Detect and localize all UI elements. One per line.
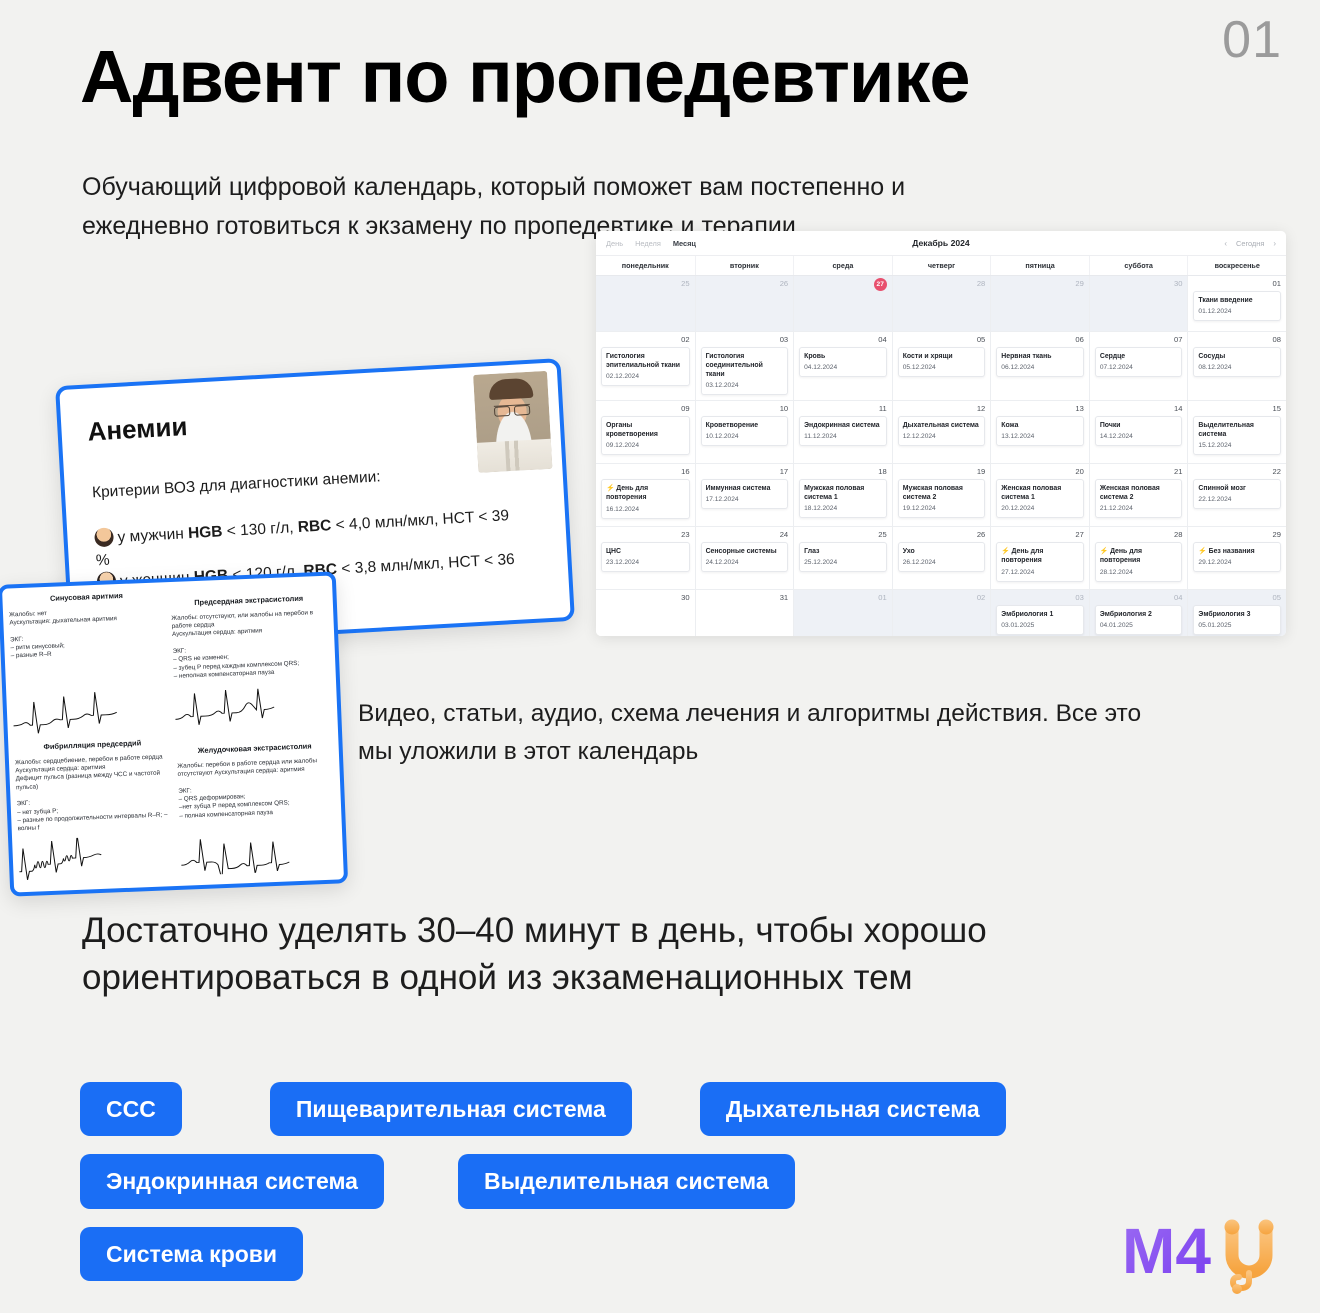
stethoscope-chestpiece: [1232, 1284, 1242, 1294]
topic-tag-digestive[interactable]: Пищеварительная система: [270, 1082, 632, 1136]
calendar-event-title: Глаз: [804, 547, 882, 556]
calendar-day-cell[interactable]: 05Кости и хрящи05.12.2024: [892, 332, 991, 400]
calendar-toolbar: День Неделя Месяц Декабрь 2024 ‹ Сегодня…: [596, 231, 1286, 255]
calendar-event[interactable]: Ткани введение01.12.2024: [1193, 291, 1281, 321]
calendar-day-number: 28: [1095, 530, 1183, 539]
calendar-day-number: 04: [799, 335, 887, 344]
ecg-panel-heading: Синусовая аритмия: [8, 590, 164, 605]
ecg-panel: Предсердная экстрасистолияЖалобы: отсутс…: [170, 584, 332, 732]
calendar-day-number: 17: [701, 467, 789, 476]
calendar-event[interactable]: Почки14.12.2024: [1095, 416, 1183, 446]
calendar-event-date: 26.12.2024: [903, 559, 981, 567]
calendar-day-cell[interactable]: 26Ухо26.12.2024: [892, 527, 991, 589]
glasses-icon: [494, 404, 530, 414]
anemia-card-subtitle: Критерии ВОЗ для диагностики анемии:: [92, 468, 381, 502]
anemia-card-title: Анемии: [87, 411, 188, 448]
m4u-logo: M4: [1124, 1213, 1292, 1297]
calendar-event[interactable]: ЦНС23.12.2024: [601, 542, 690, 572]
calendar-day-number: 06: [996, 335, 1084, 344]
bolt-icon: ⚡: [1198, 548, 1207, 555]
calendar-event-date: 22.12.2024: [1198, 496, 1276, 504]
ecg-arrhythmia-card[interactable]: Синусовая аритмияЖалобы: нет Аускультаци…: [0, 571, 348, 896]
ecg-panel-body: Жалобы: сердцебиение, перебои в работе с…: [15, 753, 174, 834]
calendar-day-number: 23: [601, 530, 690, 539]
calendar-title: Декабрь 2024: [596, 238, 1286, 248]
calendar-event[interactable]: Гистология эпителиальной ткани02.12.2024: [601, 347, 690, 386]
calendar-event-date: 18.12.2024: [804, 505, 882, 513]
calendar-event-title: Ухо: [903, 547, 981, 556]
calendar-day-cell[interactable]: 07Сердце07.12.2024: [1089, 332, 1188, 400]
calendar-day-number: 15: [1193, 404, 1281, 413]
calendar-day-cell[interactable]: 01Ткани введение01.12.2024: [1187, 276, 1286, 331]
calendar-day-cell[interactable]: 21Женская половая система 221.12.2024: [1089, 464, 1188, 526]
calendar-event-title: Иммунная система: [706, 484, 784, 493]
calendar-event-date: 04.01.2025: [1100, 622, 1178, 630]
calendar-event[interactable]: Мужская половая система 219.12.2024: [898, 479, 986, 518]
anemia-men-pre: у мужчин: [117, 525, 188, 546]
page-number: 01: [1222, 14, 1282, 66]
calendar-event-date: 05.12.2024: [903, 364, 981, 372]
calendar-day-number: 20: [996, 467, 1084, 476]
ecg-panel: Желудочковая экстрасистолияЖалобы: переб…: [176, 731, 337, 877]
calendar-event-date: 03.12.2024: [706, 382, 784, 390]
chevron-left-icon[interactable]: ‹: [1224, 239, 1227, 248]
calendar-event-title: Эмбриология 2: [1100, 610, 1178, 619]
calendar-event[interactable]: Нервная ткань06.12.2024: [996, 347, 1084, 377]
calendar-event-date: 20.12.2024: [1001, 505, 1079, 513]
calendar-event-title: Органы кроветворения: [606, 421, 685, 440]
ecg-waveform-icon: [12, 688, 170, 736]
bolt-icon: ⚡: [606, 485, 615, 492]
calendar-day-number: 11: [799, 404, 887, 413]
calendar-event[interactable]: Эмбриология 204.01.2025: [1095, 605, 1183, 635]
calendar-day-number: 01: [1193, 279, 1281, 288]
calendar-day-cell[interactable]: 15Выделительная система15.12.2024: [1187, 401, 1286, 463]
ecg-panel-heading: Желудочковая экстрасистолия: [177, 741, 333, 756]
calendar-day-number: 18: [799, 467, 887, 476]
calendar-event-date: 07.12.2024: [1100, 364, 1178, 372]
calendar-day-number: 13: [996, 404, 1084, 413]
calendar-event[interactable]: Гистология соединительной ткани03.12.202…: [701, 347, 789, 395]
chevron-right-icon[interactable]: ›: [1273, 239, 1276, 248]
calendar-day-cell[interactable]: 09Органы кроветворения09.12.2024: [596, 401, 695, 463]
calendar-event[interactable]: Кожа13.12.2024: [996, 416, 1084, 446]
calendar-week-row: 3031010203Эмбриология 103.01.202504Эмбри…: [596, 590, 1286, 636]
bolt-icon: ⚡: [1001, 548, 1010, 555]
calendar-event-title: ⚡День для повторения: [606, 484, 685, 503]
calendar-weekday-header: понедельник вторник среда четверг пятниц…: [596, 255, 1286, 276]
calendar-event-date: 08.12.2024: [1198, 364, 1276, 372]
bolt-icon: ⚡: [1100, 548, 1109, 555]
calendar-day-number: 25: [799, 530, 887, 539]
topic-tag-respiratory[interactable]: Дыхательная система: [700, 1082, 1006, 1136]
calendar-day-cell[interactable]: 03Гистология соединительной ткани03.12.2…: [695, 332, 794, 400]
ecg-panel-body: Жалобы: отсутствуют, или жалобы на переб…: [171, 609, 330, 682]
calendar-day-number: 29: [996, 279, 1084, 288]
calendar-day-cell[interactable]: 30: [596, 590, 695, 636]
ecg-waveform-icon: [180, 828, 338, 876]
calendar-event-date: 05.01.2025: [1198, 622, 1276, 630]
stethoscope-u-shape: [1232, 1229, 1266, 1272]
weekday-fri: пятница: [990, 256, 1089, 275]
calendar-event-date: 12.12.2024: [903, 433, 981, 441]
calendar-event-date: 13.12.2024: [1001, 433, 1079, 441]
calendar-day-cell[interactable]: 13Кожа13.12.2024: [990, 401, 1089, 463]
topic-tag-row-3: Система крови: [80, 1227, 1200, 1281]
calendar-day-number: 03: [701, 335, 789, 344]
calendar-day-number: 31: [701, 593, 789, 602]
calendar-day-cell[interactable]: 04Эмбриология 204.01.2025: [1089, 590, 1188, 636]
calendar-day-number: 09: [601, 404, 690, 413]
calendar-day-cell[interactable]: 29: [990, 276, 1089, 331]
calendar-event-title: Почки: [1100, 421, 1178, 430]
calendar-event[interactable]: Женская половая система 120.12.2024: [996, 479, 1084, 518]
calendar-day-cell[interactable]: 27⚡День для повторения27.12.2024: [990, 527, 1089, 589]
calendar-event-title: Женская половая система 1: [1001, 484, 1079, 503]
calendar-event-title: Эндокринная система: [804, 421, 882, 430]
calendar-event-title: ЦНС: [606, 547, 685, 556]
topic-tag-excretory[interactable]: Выделительная система: [458, 1154, 795, 1208]
calendar-day-cell[interactable]: 10Кроветворение10.12.2024: [695, 401, 794, 463]
calendar-day-cell[interactable]: 14Почки14.12.2024: [1089, 401, 1188, 463]
calendar-day-number: 24: [701, 530, 789, 539]
calendar-event-title: Нервная ткань: [1001, 352, 1079, 361]
calendar-event-title: Кровь: [804, 352, 882, 361]
man-avatar-icon: [94, 527, 114, 547]
anemia-men-mid: < 130 г/л,: [222, 519, 298, 540]
calendar-day-cell[interactable]: 05Эмбриология 305.01.2025: [1187, 590, 1286, 636]
ecg-panel: Фибрилляция предсердийЖалобы: сердцебиен…: [14, 738, 175, 884]
slide-root: 01 Адвент по пропедевтике Обучающий цифр…: [0, 0, 1320, 1313]
calendar-event[interactable]: Женская половая система 221.12.2024: [1095, 479, 1183, 518]
calendar-event-date: 15.12.2024: [1198, 442, 1276, 450]
ecg-panel: Синусовая аритмияЖалобы: нет Аускультаци…: [8, 590, 170, 738]
ecg-panel-heading: Фибрилляция предсердий: [14, 738, 170, 753]
calendar-day-cell[interactable]: 23ЦНС23.12.2024: [596, 527, 695, 589]
calendar-event[interactable]: Выделительная система15.12.2024: [1193, 416, 1281, 455]
stethoscope-earpiece-right: [1259, 1220, 1274, 1235]
calendar-event-title: Выделительная система: [1198, 421, 1276, 440]
calendar-day-cell[interactable]: 22Спинной мозг22.12.2024: [1187, 464, 1286, 526]
calendar-day-number: 03: [996, 593, 1084, 602]
calendar-week-row: 23ЦНС23.12.202424Сенсорные системы24.12.…: [596, 527, 1286, 590]
calendar-event[interactable]: Кроветворение10.12.2024: [701, 416, 789, 446]
mid-paragraph: Видео, статьи, аудио, схема лечения и ал…: [358, 695, 1158, 771]
calendar-day-cell[interactable]: 20Женская половая система 120.12.2024: [990, 464, 1089, 526]
ecg-panel-heading: Предсердная экстрасистолия: [171, 594, 327, 609]
calendar-event[interactable]: Эндокринная система11.12.2024: [799, 416, 887, 446]
calendar-event-date: 14.12.2024: [1100, 433, 1178, 441]
calendar-event-title: ⚡Без названия: [1198, 547, 1276, 556]
calendar-day-number: 30: [1095, 279, 1183, 288]
calendar-event[interactable]: Сосуды08.12.2024: [1193, 347, 1281, 377]
calendar-event[interactable]: Кости и хрящи05.12.2024: [898, 347, 986, 377]
calendar-event-title: Дыхательная система: [903, 421, 981, 430]
calendar-event-title: Гистология эпителиальной ткани: [606, 352, 685, 371]
calendar-day-cell[interactable]: 28: [892, 276, 991, 331]
shirt-shape: [477, 439, 553, 473]
weekday-mon: понедельник: [596, 256, 695, 275]
calendar-day-cell[interactable]: 03Эмбриология 103.01.2025: [990, 590, 1089, 636]
calendar-day-number: 29: [1193, 530, 1281, 539]
calendar-event-date: 17.12.2024: [706, 496, 784, 504]
calendar-day-number: 02: [898, 593, 986, 602]
calendar-day-number: 26: [898, 530, 986, 539]
calendar-week-row: 02Гистология эпителиальной ткани02.12.20…: [596, 332, 1286, 401]
bottom-paragraph: Достаточно уделять 30–40 минут в день, ч…: [82, 907, 1092, 1002]
calendar-day-cell[interactable]: 17Иммунная система17.12.2024: [695, 464, 794, 526]
calendar-event-date: 21.12.2024: [1100, 505, 1178, 513]
calendar-event-title: Спинной мозг: [1198, 484, 1276, 493]
calendar-event[interactable]: Спинной мозг22.12.2024: [1193, 479, 1281, 509]
calendar-day-number: 08: [1193, 335, 1281, 344]
calendar-day-number: 14: [1095, 404, 1183, 413]
calendar-event-date: 27.12.2024: [1001, 569, 1079, 577]
calendar-day-cell[interactable]: 02Гистология эпителиальной ткани02.12.20…: [596, 332, 695, 400]
weekday-sun: воскресенье: [1187, 256, 1286, 275]
calendar-day-number: 16: [601, 467, 690, 476]
calendar-event[interactable]: Эмбриология 305.01.2025: [1193, 605, 1281, 635]
weekday-thu: четверг: [892, 256, 991, 275]
calendar-event-date: 19.12.2024: [903, 505, 981, 513]
calendar-event-date: 09.12.2024: [606, 442, 685, 450]
calendar-day-number: 30: [601, 593, 690, 602]
calendar-week-row: 09Органы кроветворения09.12.202410Кровет…: [596, 401, 1286, 464]
calendar-event-title: Эмбриология 1: [1001, 610, 1079, 619]
topic-tag-list: ССС Пищеварительная система Дыхательная …: [80, 1082, 1200, 1281]
calendar-day-number: 04: [1095, 593, 1183, 602]
calendar-day-number: 07: [1095, 335, 1183, 344]
calendar-today-marker: 27: [874, 278, 887, 291]
calendar-day-cell[interactable]: 19Мужская половая система 219.12.2024: [892, 464, 991, 526]
calendar-day-cell[interactable]: 25: [596, 276, 695, 331]
calendar-day-number: 19: [898, 467, 986, 476]
calendar-event[interactable]: ⚡День для повторения16.12.2024: [601, 479, 690, 518]
calendar-event-title: Эмбриология 3: [1198, 610, 1276, 619]
calendar-event-date: 24.12.2024: [706, 559, 784, 567]
calendar-day-cell[interactable]: 30: [1089, 276, 1188, 331]
calendar-day-number: 10: [701, 404, 789, 413]
calendar-day-cell[interactable]: 27: [793, 276, 892, 331]
calendar-grid[interactable]: 25262728293001Ткани введение01.12.202402…: [596, 276, 1286, 636]
calendar-event-date: 01.12.2024: [1198, 308, 1276, 316]
calendar-day-number: 01: [799, 593, 887, 602]
ecg-panel-body: Жалобы: перебои в работе сердца или жало…: [177, 756, 335, 820]
logo-m4-text: M4: [1124, 1215, 1211, 1287]
anemia-men-rbc: RBC: [297, 517, 331, 536]
calendar-day-cell[interactable]: 18Мужская половая система 118.12.2024: [793, 464, 892, 526]
calendar-event[interactable]: Глаз25.12.2024: [799, 542, 887, 572]
ecg-waveform-icon: [18, 834, 176, 882]
calendar-event-date: 04.12.2024: [804, 364, 882, 372]
calendar-week-row: 25262728293001Ткани введение01.12.2024: [596, 276, 1286, 332]
weekday-sat: суббота: [1089, 256, 1188, 275]
calendar-event-date: 02.12.2024: [606, 373, 685, 381]
calendar-day-number: 26: [701, 279, 789, 288]
calendar-day-cell[interactable]: 08Сосуды08.12.2024: [1187, 332, 1286, 400]
page-title: Адвент по пропедевтике: [80, 38, 970, 116]
topic-tag-endocrine[interactable]: Эндокринная система: [80, 1154, 384, 1208]
calendar-widget[interactable]: День Неделя Месяц Декабрь 2024 ‹ Сегодня…: [596, 231, 1286, 636]
calendar-day-cell[interactable]: 31: [695, 590, 794, 636]
calendar-event-date: 11.12.2024: [804, 433, 882, 441]
calendar-day-number: 05: [898, 335, 986, 344]
calendar-event-title: ⚡День для повторения: [1100, 547, 1178, 566]
calendar-event[interactable]: ⚡День для повторения28.12.2024: [1095, 542, 1183, 581]
calendar-day-number: 28: [898, 279, 986, 288]
calendar-event[interactable]: ⚡День для повторения27.12.2024: [996, 542, 1084, 581]
calendar-day-cell[interactable]: 29⚡Без названия29.12.2024: [1187, 527, 1286, 589]
calendar-event[interactable]: Сердце07.12.2024: [1095, 347, 1183, 377]
calendar-day-number: 22: [1193, 467, 1281, 476]
calendar-today-button[interactable]: Сегодня: [1236, 239, 1264, 248]
calendar-event-title: Мужская половая система 1: [804, 484, 882, 503]
calendar-day-cell[interactable]: 24Сенсорные системы24.12.2024: [695, 527, 794, 589]
calendar-event-title: Кроветворение: [706, 421, 784, 430]
calendar-event-title: Сердце: [1100, 352, 1178, 361]
calendar-day-cell[interactable]: 04Кровь04.12.2024: [793, 332, 892, 400]
ecg-panel-grid: Синусовая аритмияЖалобы: нет Аускультаци…: [8, 584, 337, 885]
calendar-day-cell[interactable]: 06Нервная ткань06.12.2024: [990, 332, 1089, 400]
calendar-day-cell[interactable]: 28⚡День для повторения28.12.2024: [1089, 527, 1188, 589]
hair-shape: [488, 378, 533, 400]
topic-tag-row-2: Эндокринная система Выделительная систем…: [80, 1154, 1200, 1208]
calendar-event[interactable]: Сенсорные системы24.12.2024: [701, 542, 789, 572]
lecturer-video-thumbnail[interactable]: [473, 371, 552, 473]
calendar-day-number: 27: [996, 530, 1084, 539]
calendar-event-date: 23.12.2024: [606, 559, 685, 567]
weekday-tue: вторник: [695, 256, 794, 275]
weekday-wed: среда: [793, 256, 892, 275]
calendar-event-title: ⚡День для повторения: [1001, 547, 1079, 566]
calendar-nav[interactable]: ‹ Сегодня ›: [1224, 239, 1276, 248]
calendar-event[interactable]: ⚡Без названия29.12.2024: [1193, 542, 1281, 572]
calendar-event[interactable]: Иммунная система17.12.2024: [701, 479, 789, 509]
calendar-day-cell[interactable]: 11Эндокринная система11.12.2024: [793, 401, 892, 463]
calendar-day-number: 02: [601, 335, 690, 344]
calendar-day-number: 21: [1095, 467, 1183, 476]
ecg-waveform-icon: [174, 682, 332, 730]
calendar-day-cell[interactable]: 26: [695, 276, 794, 331]
calendar-event-title: Женская половая система 2: [1100, 484, 1178, 503]
calendar-event-title: Сенсорные системы: [706, 547, 784, 556]
calendar-event-date: 06.12.2024: [1001, 364, 1079, 372]
calendar-event-title: Кости и хрящи: [903, 352, 981, 361]
calendar-event-title: Сосуды: [1198, 352, 1276, 361]
calendar-day-cell[interactable]: 16⚡День для повторения16.12.2024: [596, 464, 695, 526]
calendar-event-date: 29.12.2024: [1198, 559, 1276, 567]
m4u-logo-svg: M4: [1124, 1213, 1292, 1297]
calendar-event-title: Кожа: [1001, 421, 1079, 430]
calendar-event-title: Ткани введение: [1198, 296, 1276, 305]
calendar-week-row: 16⚡День для повторения16.12.202417Иммунн…: [596, 464, 1286, 527]
calendar-event[interactable]: Дыхательная система12.12.2024: [898, 416, 986, 446]
topic-tag-row-1: ССС Пищеварительная система Дыхательная …: [80, 1082, 1200, 1136]
topic-tag-blood[interactable]: Система крови: [80, 1227, 303, 1281]
calendar-day-cell[interactable]: 01: [793, 590, 892, 636]
calendar-day-number: 05: [1193, 593, 1281, 602]
calendar-event[interactable]: Органы кроветворения09.12.2024: [601, 416, 690, 455]
calendar-event-date: 10.12.2024: [706, 433, 784, 441]
calendar-event[interactable]: Ухо26.12.2024: [898, 542, 986, 572]
topic-tag-ccc[interactable]: ССС: [80, 1082, 182, 1136]
calendar-event-title: Мужская половая система 2: [903, 484, 981, 503]
calendar-event[interactable]: Эмбриология 103.01.2025: [996, 605, 1084, 635]
calendar-day-cell[interactable]: 25Глаз25.12.2024: [793, 527, 892, 589]
calendar-event-date: 28.12.2024: [1100, 569, 1178, 577]
calendar-day-cell[interactable]: 12Дыхательная система12.12.2024: [892, 401, 991, 463]
calendar-day-number: 25: [601, 279, 690, 288]
calendar-event-date: 16.12.2024: [606, 506, 685, 514]
calendar-day-number: 12: [898, 404, 986, 413]
anemia-men-hgb: HGB: [188, 523, 223, 542]
calendar-event[interactable]: Мужская половая система 118.12.2024: [799, 479, 887, 518]
stethoscope-earpiece-left: [1225, 1220, 1240, 1235]
ecg-panel-body: Жалобы: нет Аускультация: дыхательная ар…: [9, 605, 167, 661]
calendar-day-cell[interactable]: 02: [892, 590, 991, 636]
calendar-event-title: Гистология соединительной ткани: [706, 352, 784, 380]
calendar-event-date: 03.01.2025: [1001, 622, 1079, 630]
calendar-event-date: 25.12.2024: [804, 559, 882, 567]
calendar-event[interactable]: Кровь04.12.2024: [799, 347, 887, 377]
